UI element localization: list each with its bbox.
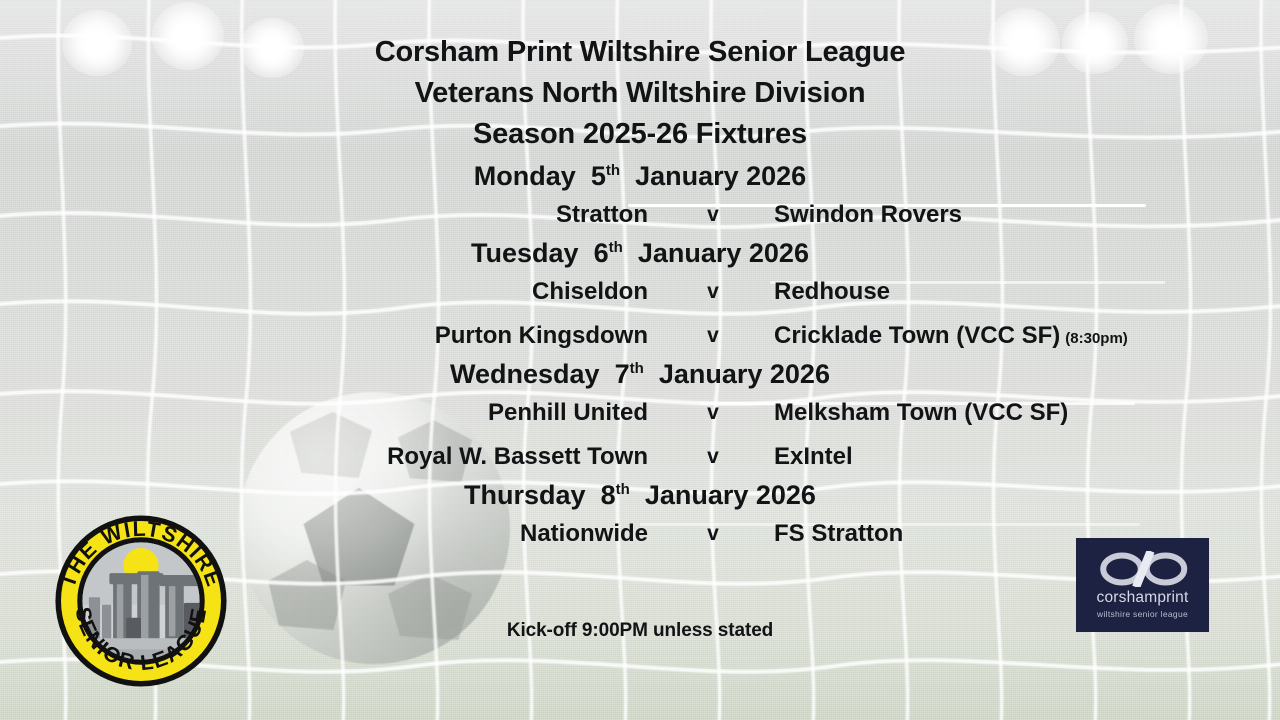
fixture-row: Stratton v Swindon Rovers [0,193,1280,237]
day-block-wednesday: Wednesday 7th January 2026 Penhill Unite… [0,358,1280,479]
day-block-monday: Monday 5th January 2026 Stratton v Swind… [0,160,1280,237]
home-team: Royal W. Bassett Town [387,435,648,479]
away-team: ExIntel [774,435,853,479]
versus-label: v [698,193,728,237]
home-team: Stratton [556,193,648,237]
away-team-name: ExIntel [774,443,853,470]
away-team-name: FS Stratton [774,520,903,547]
day-month-year: January 2026 [645,480,816,510]
day-ordinal: th [606,162,620,179]
corsham-print-name: corshamprint [1097,590,1189,606]
day-month-year: January 2026 [635,161,806,191]
away-team: Swindon Rovers [774,193,962,237]
day-heading: Tuesday 6th January 2026 [0,237,1280,270]
day-weekday: Tuesday [471,238,579,268]
versus-label: v [698,435,728,479]
fixtures-list: Monday 5th January 2026 Stratton v Swind… [0,160,1280,556]
kickoff-time: (8:30pm) [1065,330,1128,347]
home-team: Chiseldon [532,270,648,314]
day-number: 8 [601,480,616,510]
day-month-year: January 2026 [659,359,830,389]
away-team: Melksham Town (VCC SF) [774,391,1068,435]
day-number: 5 [591,161,606,191]
day-ordinal: th [616,481,630,498]
away-team: Cricklade Town (VCC SF)(8:30pm) [774,314,1128,361]
fixture-row: Purton Kingsdown v Cricklade Town (VCC S… [0,314,1280,358]
versus-label: v [698,270,728,314]
away-team-name: Melksham Town (VCC SF) [774,399,1068,426]
day-heading: Wednesday 7th January 2026 [0,358,1280,391]
versus-label: v [698,314,728,358]
corsham-print-subtitle: wiltshire senior league [1097,609,1188,619]
day-heading: Monday 5th January 2026 [0,160,1280,193]
versus-label: v [698,391,728,435]
day-weekday: Wednesday [450,359,600,389]
home-team: Purton Kingsdown [435,314,648,358]
away-team: FS Stratton [774,512,903,556]
home-team: Nationwide [520,512,648,556]
day-number: 7 [615,359,630,389]
away-team-name: Swindon Rovers [774,201,962,228]
fixture-row: Royal W. Bassett Town v ExIntel [0,435,1280,479]
away-team-name: Redhouse [774,278,890,305]
day-weekday: Thursday [464,480,586,510]
fixture-row: Chiseldon v Redhouse [0,270,1280,314]
title-line-season: Season 2025-26 Fixtures [0,114,1280,155]
title-line-division: Veterans North Wiltshire Division [0,73,1280,114]
page-title: Corsham Print Wiltshire Senior League Ve… [0,32,1280,155]
day-block-tuesday: Tuesday 6th January 2026 Chiseldon v Red… [0,237,1280,358]
wiltshire-senior-league-logo: THE WILTSHIRE SENIOR LEAGUE [48,508,234,694]
day-ordinal: th [630,360,644,377]
fixture-row: Penhill United v Melksham Town (VCC SF) [0,391,1280,435]
day-weekday: Monday [474,161,576,191]
versus-label: v [698,512,728,556]
home-team: Penhill United [488,391,648,435]
away-team-name: Cricklade Town (VCC SF) [774,322,1060,349]
away-team: Redhouse [774,270,890,314]
corshamprint-mark-icon [1097,551,1189,587]
title-line-league: Corsham Print Wiltshire Senior League [0,32,1280,73]
day-number: 6 [594,238,609,268]
corsham-print-logo: corshamprint wiltshire senior league [1076,538,1209,632]
day-ordinal: th [609,239,623,256]
day-month-year: January 2026 [638,238,809,268]
